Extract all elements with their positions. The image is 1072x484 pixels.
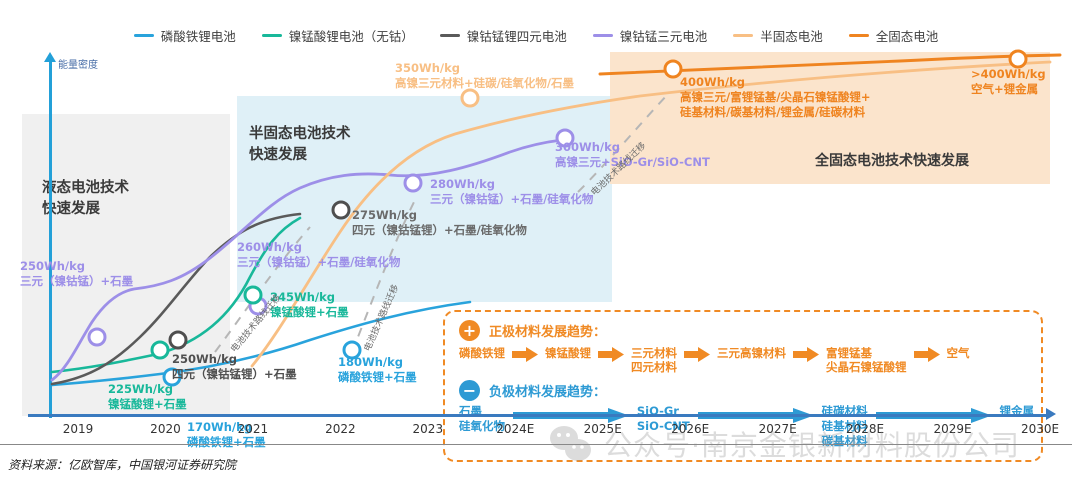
- x-tick-2027E: 2027E: [759, 422, 797, 436]
- legend-item-3[interactable]: 镍钴锰三元电池: [593, 26, 708, 45]
- cathode-step-2: 三元材料 四元材料: [631, 346, 677, 375]
- cathode-step-1: 镍锰酸锂: [545, 346, 591, 360]
- legend-label: 镍钴锰锂四元电池: [467, 26, 567, 45]
- x-tick-2030E: 2030E: [1021, 422, 1059, 436]
- anode-trend-title: 负极材料发展趋势：: [489, 381, 606, 400]
- minus-icon: −: [459, 380, 480, 401]
- x-axis-arrow-icon: [1046, 408, 1056, 420]
- x-tick-2022: 2022: [325, 422, 356, 436]
- x-tick-2019: 2019: [63, 422, 94, 436]
- x-tick-2020: 2020: [150, 422, 181, 436]
- callout-ternary-2023: 280Wh/kg三元（镍钴锰）+石墨/硅氧化物: [430, 177, 593, 207]
- chart-root: 磷酸铁锂电池镍锰酸锂电池（无钴）镍钴锰锂四元电池镍钴锰三元电池半固态电池全固态电…: [0, 0, 1072, 484]
- x-tick-2029E: 2029E: [933, 422, 971, 436]
- legend-swatch-icon: [134, 34, 154, 37]
- legend-item-4[interactable]: 半固态电池: [733, 26, 823, 45]
- legend-label: 磷酸铁锂电池: [161, 26, 236, 45]
- node-ternary-2023[interactable]: [404, 174, 423, 193]
- node-nmlo-2020[interactable]: [151, 341, 170, 360]
- callout-lfp-2022: 180Wh/kg磷酸铁锂+石墨: [338, 355, 417, 385]
- legend-label: 全固态电池: [876, 26, 939, 45]
- cathode-step-0: 磷酸铁锂: [459, 346, 505, 360]
- chart-legend: 磷酸铁锂电池镍锰酸锂电池（无钴）镍钴锰锂四元电池镍钴锰三元电池半固态电池全固态电…: [0, 22, 1072, 48]
- legend-swatch-icon: [733, 34, 753, 37]
- legend-item-2[interactable]: 镍钴锰锂四元电池: [440, 26, 567, 45]
- x-tick-2024E: 2024E: [496, 422, 534, 436]
- callout-ternary-2019: 250Wh/kg三元（镍钴锰）+石墨: [20, 259, 133, 289]
- arrow-right-icon: [598, 347, 624, 362]
- callout-ternary-2021: 260Wh/kg三元（镍钴锰）+石墨/硅氧化物: [237, 240, 400, 270]
- cathode-step-5: 空气: [947, 346, 970, 360]
- node-semi-solid-2024[interactable]: [461, 89, 480, 108]
- cathode-step-4: 富锂锰基 尖晶石镍锰酸锂: [826, 346, 907, 375]
- callout-all-solid-2030: >400Wh/kg空气+锂金属: [971, 67, 1046, 97]
- cathode-trend-steps: 磷酸铁锂镍锰酸锂三元材料 四元材料三元高镍材料富锂锰基 尖晶石镍锰酸锂空气: [459, 346, 1034, 382]
- callout-semi-solid-2024: 350Wh/kg高镍三元材料+硅碳/硅氧化物/石墨: [395, 61, 574, 91]
- callout-nmlo-2020: 225Wh/kg镍锰酸锂+石墨: [108, 382, 187, 412]
- x-axis-ticks: 201920202021202220232024E2025E2026E2027E…: [0, 422, 1072, 444]
- node-quaternary-2020[interactable]: [169, 331, 188, 350]
- legend-item-5[interactable]: 全固态电池: [849, 26, 939, 45]
- legend-label: 镍锰酸锂电池（无钴）: [289, 26, 414, 45]
- legend-swatch-icon: [262, 34, 282, 37]
- x-tick-2028E: 2028E: [846, 422, 884, 436]
- legend-label: 半固态电池: [760, 26, 823, 45]
- plot-area: 液态电池技术 快速发展 半固态电池技术 快速发展 全固态电池技术快速发展 能量密…: [0, 52, 1072, 432]
- cathode-trend-title: 正极材料发展趋势：: [489, 321, 606, 340]
- legend-item-0[interactable]: 磷酸铁锂电池: [134, 26, 236, 45]
- legend-item-1[interactable]: 镍锰酸锂电池（无钴）: [262, 26, 414, 45]
- node-all-solid-2030[interactable]: [1009, 50, 1028, 69]
- cathode-trend-header: + 正极材料发展趋势：: [459, 320, 606, 341]
- legend-swatch-icon: [849, 34, 869, 37]
- plus-icon: +: [459, 320, 480, 341]
- arrow-right-icon: [914, 347, 940, 362]
- x-tick-2023: 2023: [413, 422, 444, 436]
- arrow-right-icon: [793, 347, 819, 362]
- x-axis-line: [28, 414, 1050, 417]
- node-quaternary-2022[interactable]: [332, 201, 351, 220]
- callout-quaternary-2022: 275Wh/kg四元（镍钴锰锂）+石墨/硅氧化物: [352, 208, 527, 238]
- legend-swatch-icon: [440, 34, 460, 37]
- callout-quaternary-2020: 250Wh/kg四元（镍钴锰锂）+石墨: [172, 352, 297, 382]
- x-tick-2026E: 2026E: [671, 422, 709, 436]
- node-nmlo-2021[interactable]: [244, 286, 263, 305]
- x-tick-2025E: 2025E: [584, 422, 622, 436]
- anode-trend-header: − 负极材料发展趋势：: [459, 380, 606, 401]
- cathode-step-3: 三元高镍材料: [717, 346, 786, 360]
- arrow-right-icon: [684, 347, 710, 362]
- footer-divider: [0, 444, 1072, 445]
- callout-all-solid-2026: 400Wh/kg高镍三元/富锂锰基/尖晶石镍锰酸锂+ 硅基材料/碳基材料/锂金属…: [680, 75, 871, 120]
- node-ternary-2019[interactable]: [88, 328, 107, 347]
- callout-nmlo-2021: 245Wh/kg镍锰酸锂+石墨: [270, 290, 349, 320]
- arrow-right-icon: [512, 347, 538, 362]
- legend-swatch-icon: [593, 34, 613, 37]
- source-note: 资料来源：亿欧智库，中国银河证券研究院: [8, 456, 236, 473]
- legend-label: 镍钴锰三元电池: [620, 26, 708, 45]
- x-tick-2021: 2021: [238, 422, 269, 436]
